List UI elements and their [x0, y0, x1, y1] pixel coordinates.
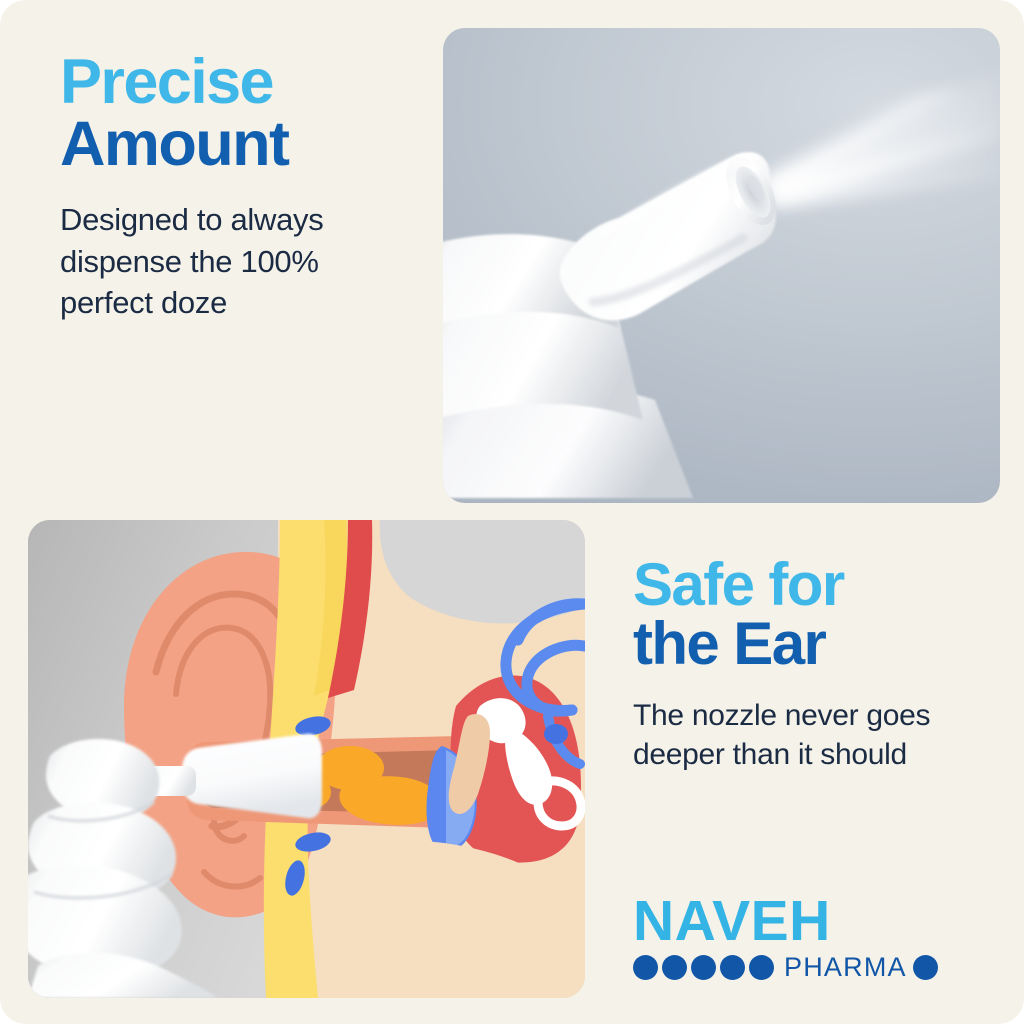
logo-dot: [633, 955, 658, 980]
ear-anatomy-diagram: [28, 520, 585, 998]
logo-dot: [662, 955, 687, 980]
feature-block-safe-for-the-ear: Safe for the Ear The nozzle never goes d…: [633, 556, 963, 775]
spray-photo-illustration: [443, 28, 1000, 503]
mist-spray: [761, 68, 1000, 210]
spray-bottle-nozzle-photo: [443, 28, 1000, 503]
logo-dot: [691, 955, 716, 980]
headline-line-2: the Ear: [633, 615, 963, 674]
headline-line-2: Amount: [60, 114, 400, 176]
logo-dot: [749, 955, 774, 980]
feature-block-precise-amount: Precise Amount Designed to always dispen…: [60, 52, 400, 323]
logo-dot-trailing: [913, 955, 938, 980]
cochlea-base: [544, 724, 568, 744]
logo-brand-name: NAVEH: [633, 893, 933, 950]
precise-amount-headline: Precise Amount: [60, 52, 400, 175]
safe-for-the-ear-subcopy: The nozzle never goes deeper than it sho…: [633, 696, 963, 776]
headline-line-1: Precise: [60, 52, 400, 114]
ear-diagram-illustration: [28, 520, 585, 998]
safe-for-the-ear-headline: Safe for the Ear: [633, 556, 963, 674]
spray-nozzle: [560, 149, 786, 320]
headline-line-1: Safe for: [633, 556, 963, 615]
infographic-page: Precise Amount Designed to always dispen…: [0, 0, 1024, 1024]
naveh-pharma-logo: NAVEH PHARMA: [633, 893, 933, 981]
logo-sub-name: PHARMA: [784, 954, 907, 981]
logo-dots-row: PHARMA: [633, 954, 933, 981]
logo-dot: [720, 955, 745, 980]
precise-amount-subcopy: Designed to always dispense the 100% per…: [60, 199, 400, 323]
